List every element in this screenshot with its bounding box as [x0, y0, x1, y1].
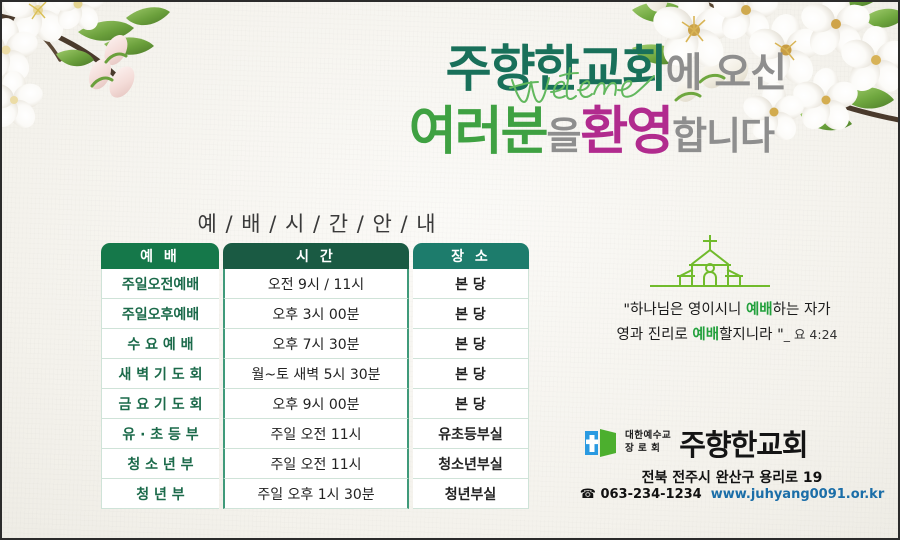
column-header-place: 장 소 [413, 243, 529, 269]
church-illustration-icon [650, 234, 770, 290]
cell-worship: 유 · 초 등 부 [101, 419, 219, 449]
worship-schedule-table: 예 배 시 간 장 소 주일오전예배오전 9시 / 11시본 당주일오후예배오후… [101, 243, 529, 509]
verse-reference: _ 요 4:24 [784, 327, 838, 342]
church-cross-logo-icon [584, 428, 618, 458]
cell-place: 유초등부실 [413, 419, 529, 449]
phone-number: ☎ 063-234-1234 [580, 487, 702, 502]
table-row: 수 요 예 배오후 7시 30분본 당 [101, 329, 529, 359]
verse-line2-a: 영과 진리로 [616, 327, 692, 343]
table-row: 주일오전예배오전 9시 / 11시본 당 [101, 269, 529, 299]
headline: 주향한교회에 오신 여러분을환영합니다 [2, 44, 792, 158]
table-row: 청 소 년 부주일 오전 11시청소년부실 [101, 449, 529, 479]
verse-line1-a: "하나님은 영이시니 [623, 302, 746, 318]
church-address: 전북 전주시 완산구 용리로 19 [572, 467, 892, 487]
cell-place: 본 당 [413, 389, 529, 419]
cell-place: 청소년부실 [413, 449, 529, 479]
cell-time: 오후 3시 00분 [223, 299, 409, 329]
headline-line1-rest: 에 오신 [666, 50, 786, 96]
cell-worship: 청 소 년 부 [101, 449, 219, 479]
table-row: 금 요 기 도 회오후 9시 00분본 당 [101, 389, 529, 419]
cell-place: 본 당 [413, 359, 529, 389]
cell-time: 주일 오후 1시 30분 [223, 479, 409, 509]
verse-line-1: "하나님은 영이시니 예배하는 자가 [562, 298, 892, 323]
verse-line-2: 영과 진리로 예배할지니라 "_ 요 4:24 [562, 323, 892, 348]
column-header-time: 시 간 [223, 243, 409, 269]
verse-line2-b: 할지니라 " [719, 327, 784, 343]
welcome-banner: 주향한교회에 오신 여러분을환영합니다 Welcome 예 / 배 / 시 / … [0, 0, 900, 540]
contact-line: ☎ 063-234-1234www.juhyang0091.or.kr [572, 487, 892, 502]
verse-line1-highlight: 예배 [746, 302, 773, 318]
headline-line-1: 주향한교회에 오신 [2, 44, 792, 94]
verse-line2-highlight: 예배 [692, 327, 719, 343]
headline-particle: 을 [546, 114, 580, 158]
cell-time: 주일 오전 11시 [223, 449, 409, 479]
headline-line-2: 여러분을환영합니다 [2, 106, 792, 158]
table-row: 청 년 부주일 오후 1시 30분청년부실 [101, 479, 529, 509]
cell-place: 본 당 [413, 329, 529, 359]
denomination-line-2: 장 로 회 [625, 443, 671, 456]
denomination-name: 대한예수교 장 로 회 [625, 430, 671, 456]
church-logo-block: 대한예수교 장 로 회 주향한교회 [584, 422, 884, 464]
column-header-worship: 예 배 [101, 243, 219, 269]
denomination-line-1: 대한예수교 [625, 430, 671, 443]
table-header-row: 예 배 시 간 장 소 [101, 243, 529, 269]
cell-place: 본 당 [413, 269, 529, 299]
bible-verse: "하나님은 영이시니 예배하는 자가 영과 진리로 예배할지니라 "_ 요 4:… [562, 298, 892, 349]
schedule-rows: 주일오전예배오전 9시 / 11시본 당주일오후예배오후 3시 00분본 당수 … [101, 269, 529, 509]
website-url[interactable]: www.juhyang0091.or.kr [711, 487, 885, 502]
cell-time: 오후 7시 30분 [223, 329, 409, 359]
welcome-script-text: Welcome [508, 58, 658, 114]
table-row: 새 벽 기 도 회월~토 새벽 5시 30분본 당 [101, 359, 529, 389]
cell-worship: 주일오후예배 [101, 299, 219, 329]
cell-place: 본 당 [413, 299, 529, 329]
cell-time: 오전 9시 / 11시 [223, 269, 409, 299]
schedule-title: 예 / 배 / 시 / 간 / 안 / 내 [102, 208, 532, 238]
footer-church-name: 주향한교회 [679, 422, 807, 464]
verse-line1-b: 하는 자가 [773, 302, 831, 318]
cell-time: 주일 오전 11시 [223, 419, 409, 449]
cell-worship: 금 요 기 도 회 [101, 389, 219, 419]
headline-line2-tail: 합니다 [672, 114, 774, 158]
table-row: 유 · 초 등 부주일 오전 11시유초등부실 [101, 419, 529, 449]
cell-worship: 청 년 부 [101, 479, 219, 509]
cell-place: 청년부실 [413, 479, 529, 509]
cell-worship: 주일오전예배 [101, 269, 219, 299]
cell-worship: 수 요 예 배 [101, 329, 219, 359]
cell-worship: 새 벽 기 도 회 [101, 359, 219, 389]
cell-time: 오후 9시 00분 [223, 389, 409, 419]
table-row: 주일오후예배오후 3시 00분본 당 [101, 299, 529, 329]
cell-time: 월~토 새벽 5시 30분 [223, 359, 409, 389]
